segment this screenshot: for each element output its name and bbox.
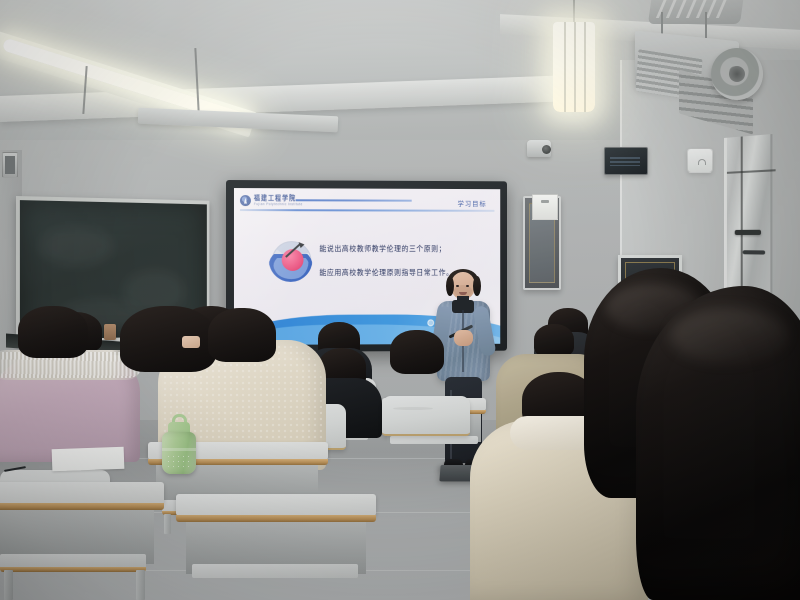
student-left-edge-dark xyxy=(18,306,88,360)
face-profile xyxy=(182,336,200,348)
notice-board xyxy=(523,196,561,290)
target-bullseye-icon xyxy=(270,240,314,282)
slide-section-tag: 学习目标 xyxy=(458,198,487,208)
wall-display-panel xyxy=(604,147,648,175)
student-row2-dark-small-2 xyxy=(390,330,444,376)
student-left-foreground-dark xyxy=(120,306,216,376)
chair-back xyxy=(382,396,470,436)
student-foreground-long-hair-right xyxy=(636,286,800,600)
desk-row1-center xyxy=(176,494,376,600)
pendant-light xyxy=(553,18,595,112)
wall-utility-box xyxy=(2,152,18,178)
desk-row1-left xyxy=(0,482,164,600)
lecturer-hands xyxy=(454,330,473,346)
notice-paper xyxy=(532,194,558,220)
slide-header: 福建工程学院 Fujian Polytechnic Institute 学习目标 xyxy=(240,193,494,211)
slide-header-divider xyxy=(240,209,494,211)
university-name-en: Fujian Polytechnic Institute xyxy=(254,202,303,206)
slide-bullet-1: 能说出高校教师教学伦理的三个原则； xyxy=(319,244,446,255)
ceiling-air-conditioner xyxy=(635,36,763,128)
student-row2-dark-small xyxy=(208,308,276,366)
door-handle[interactable] xyxy=(735,230,761,235)
security-camera-icon xyxy=(527,140,551,157)
classroom-photo: 福建工程学院 Fujian Polytechnic Institute 学习目标… xyxy=(0,0,800,600)
university-logo-icon xyxy=(240,195,251,206)
notebook-paper xyxy=(52,447,125,471)
wifi-access-point-icon xyxy=(687,148,713,173)
green-thermos-bottle xyxy=(162,416,196,474)
